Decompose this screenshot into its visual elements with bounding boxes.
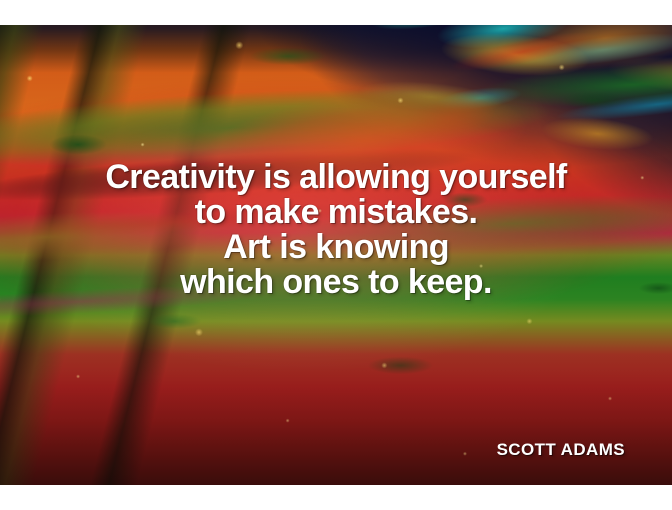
quote-poster: Creativity is allowing yourself to make …: [0, 0, 672, 510]
quote-line-3: Art is knowing: [0, 230, 672, 265]
quote-line-2: to make mistakes.: [0, 195, 672, 230]
quote-line-4: which ones to keep.: [0, 265, 672, 300]
quote-text-block: Creativity is allowing yourself to make …: [0, 160, 672, 300]
quote-line-1: Creativity is allowing yourself: [0, 160, 672, 195]
quote-attribution: SCOTT ADAMS: [497, 440, 625, 460]
